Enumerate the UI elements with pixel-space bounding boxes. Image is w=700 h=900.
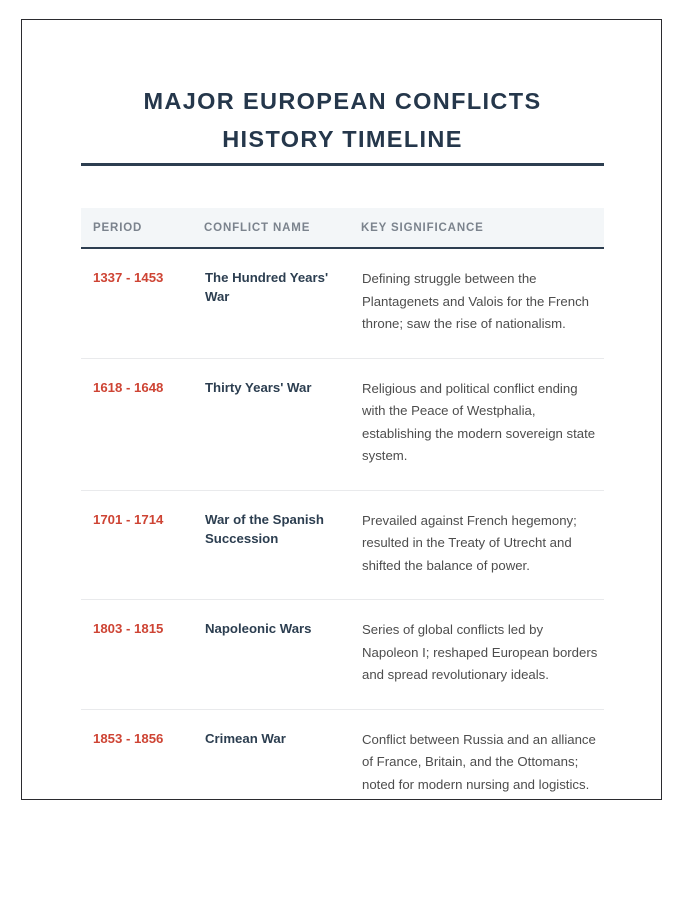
cell-period: 1853 - 1856	[81, 709, 204, 800]
cell-key-significance: Religious and political conflict ending …	[361, 358, 604, 490]
cell-key-significance: Conflict between Russia and an alliance …	[361, 709, 604, 800]
column-header-key-significance: KEY SIGNIFICANCE	[361, 208, 604, 248]
cell-key-significance: Defining struggle between the Plantagene…	[361, 248, 604, 358]
cell-conflict-name: Thirty Years' War	[204, 358, 361, 490]
table-row: 1803 - 1815 Napoleonic Wars Series of gl…	[81, 600, 604, 710]
conflicts-timeline-table: PERIOD CONFLICT NAME KEY SIGNIFICANCE 13…	[81, 208, 604, 800]
document-page: MAJOR EUROPEAN CONFLICTS HISTORY TIMELIN…	[21, 19, 662, 800]
table-body: 1337 - 1453 The Hundred Years' War Defin…	[81, 248, 604, 800]
column-header-period: PERIOD	[81, 208, 204, 248]
cell-key-significance: Prevailed against French hegemony; resul…	[361, 490, 604, 600]
page-title-line-1: MAJOR EUROPEAN CONFLICTS	[81, 82, 604, 120]
cell-period: 1337 - 1453	[81, 248, 204, 358]
table-row: 1701 - 1714 War of the Spanish Successio…	[81, 490, 604, 600]
cell-conflict-name: Crimean War	[204, 709, 361, 800]
title-divider-rule	[81, 163, 604, 166]
cell-period: 1803 - 1815	[81, 600, 204, 710]
table-row: 1337 - 1453 The Hundred Years' War Defin…	[81, 248, 604, 358]
cell-conflict-name: Napoleonic Wars	[204, 600, 361, 710]
table-row: 1618 - 1648 Thirty Years' War Religious …	[81, 358, 604, 490]
column-header-conflict-name: CONFLICT NAME	[204, 208, 361, 248]
page-content: MAJOR EUROPEAN CONFLICTS HISTORY TIMELIN…	[22, 20, 661, 799]
table-header-row: PERIOD CONFLICT NAME KEY SIGNIFICANCE	[81, 208, 604, 248]
cell-key-significance: Series of global conflicts led by Napole…	[361, 600, 604, 710]
page-title-line-2: HISTORY TIMELINE	[81, 120, 604, 158]
page-title: MAJOR EUROPEAN CONFLICTS HISTORY TIMELIN…	[81, 82, 604, 158]
table-row: 1853 - 1856 Crimean War Conflict between…	[81, 709, 604, 800]
cell-period: 1701 - 1714	[81, 490, 204, 600]
cell-period: 1618 - 1648	[81, 358, 204, 490]
cell-conflict-name: The Hundred Years' War	[204, 248, 361, 358]
cell-conflict-name: War of the Spanish Succession	[204, 490, 361, 600]
